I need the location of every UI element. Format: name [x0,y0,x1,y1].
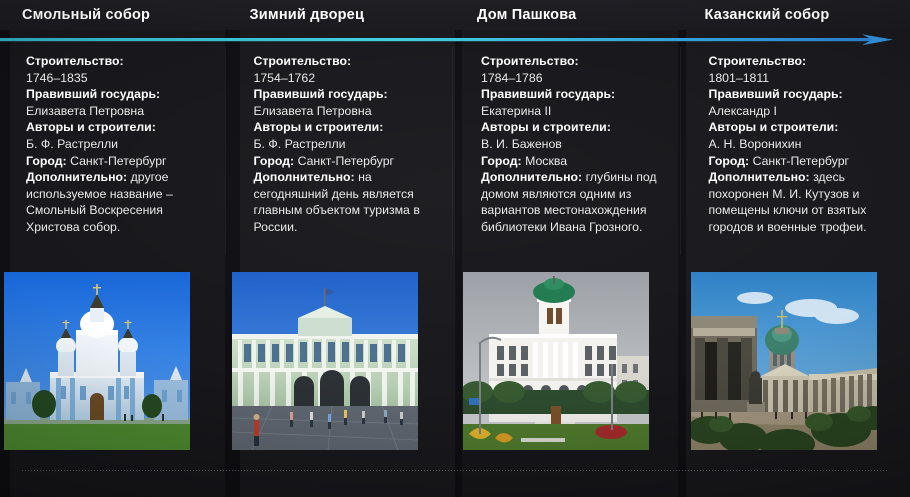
colon: : [518,154,522,168]
label-additional: Дополнительно [481,170,578,184]
label-construction: Строительство: [481,54,579,68]
label-city: Город [26,154,63,168]
value-city: Санкт-Петербург [70,154,166,168]
fact-ruler-value: Александр I [709,103,899,120]
fact-architects-label: Авторы и строители: [26,119,216,136]
value-architects: В. И. Баженов [481,137,562,151]
value-architects: Б. Ф. Растрелли [26,137,118,151]
fact-architects-label: Авторы и строители: [254,119,444,136]
fact-ruler-label: Правивший государь: [481,86,671,103]
fact-architects-value: Б. Ф. Растрелли [26,136,216,153]
photo-kazan-cathedral [691,272,877,450]
fact-additional: Дополнительно: здесь похоронен М. И. Кут… [709,169,899,235]
photo-pashkov-house [463,272,649,450]
label-architects: Авторы и строители: [254,120,384,134]
colon: : [745,154,749,168]
label-city: Город [481,154,518,168]
label-ruler: Правивший государь: [481,87,615,101]
fact-construction-value: 1746–1835 [26,70,216,87]
fact-construction-value: 1784–1786 [481,70,671,87]
column-kazan-cathedral: Строительство: 1801–1811 Правивший госуд… [683,47,910,497]
facts-list: Строительство: 1801–1811 Правивший госуд… [709,47,899,236]
fact-architects-label: Авторы и строители: [481,119,671,136]
column-header-1: Смольный собор [0,0,228,30]
label-architects: Авторы и строители: [709,120,839,134]
column-header-2: Зимний дворец [228,0,456,30]
fact-ruler-label: Правивший государь: [26,86,216,103]
column-title: Зимний дворец [250,7,365,23]
label-additional: Дополнительно [26,170,123,184]
colon: : [123,170,127,184]
value-construction: 1746–1835 [26,71,88,85]
label-architects: Авторы и строители: [26,120,156,134]
value-city: Москва [525,154,567,168]
fact-ruler-label: Правивший государь: [709,86,899,103]
value-architects: Б. Ф. Растрелли [254,137,346,151]
fact-construction-label: Строительство: [709,53,899,70]
fact-construction-label: Строительство: [481,53,671,70]
fact-additional: Дополнительно: другое используемое назва… [26,169,216,235]
facts-list: Строительство: 1754–1762 Правивший госуд… [254,47,444,236]
value-city: Санкт-Петербург [753,154,849,168]
colon: : [290,154,294,168]
bottom-divider [22,470,888,471]
label-ruler: Правивший государь: [709,87,843,101]
value-ruler: Елизавета Петровна [26,104,144,118]
column-title: Дом Пашкова [477,7,576,23]
colon: : [63,154,67,168]
column-pashkov-house: Строительство: 1784–1786 Правивший госуд… [455,47,683,497]
fact-ruler-value: Екатерина II [481,103,671,120]
column-title: Смольный собор [22,7,150,23]
fact-architects-value: В. И. Баженов [481,136,671,153]
value-construction: 1754–1762 [254,71,316,85]
fact-city: Город: Москва [481,153,671,170]
timeline-arrow [0,33,910,47]
facts-list: Строительство: 1784–1786 Правивший госуд… [481,47,671,236]
label-ruler: Правивший государь: [254,87,388,101]
label-city: Город [254,154,291,168]
fact-city: Город: Санкт-Петербург [709,153,899,170]
label-construction: Строительство: [709,54,807,68]
fact-construction-label: Строительство: [254,53,444,70]
fact-city: Город: Санкт-Петербург [254,153,444,170]
colon: : [806,170,810,184]
photo-winter-palace [232,272,418,450]
label-construction: Строительство: [26,54,124,68]
fact-additional: Дополнительно: на сегодняшний день являе… [254,169,444,235]
column-winter-palace: Строительство: 1754–1762 Правивший госуд… [228,47,456,497]
fact-construction-label: Строительство: [26,53,216,70]
fact-ruler-value: Елизавета Петровна [26,103,216,120]
fact-ruler-value: Елизавета Петровна [254,103,444,120]
label-city: Город [709,154,746,168]
slide-root: Смольный собор Зимний дворец Дом Пашкова… [0,0,910,497]
value-city: Санкт-Петербург [298,154,394,168]
column-header-4: Казанский собор [683,0,910,30]
colon: : [351,170,355,184]
fact-city: Город: Санкт-Петербург [26,153,216,170]
fact-architects-value: Б. Ф. Растрелли [254,136,444,153]
label-additional: Дополнительно [709,170,806,184]
label-construction: Строительство: [254,54,352,68]
fact-ruler-label: Правивший государь: [254,86,444,103]
columns-container: Строительство: 1746–1835 Правивший госуд… [0,47,910,497]
label-additional: Дополнительно [254,170,351,184]
fact-construction-value: 1754–1762 [254,70,444,87]
value-construction: 1801–1811 [709,71,770,85]
column-header-3: Дом Пашкова [455,0,683,30]
colon: : [578,170,582,184]
fact-architects-value: А. Н. Воронихин [709,136,899,153]
value-architects: А. Н. Воронихин [709,137,802,151]
photo-smolny-cathedral [4,272,190,450]
value-construction: 1784–1786 [481,71,543,85]
fact-construction-value: 1801–1811 [709,70,899,87]
column-smolny: Строительство: 1746–1835 Правивший госуд… [0,47,228,497]
value-ruler: Александр I [709,104,777,118]
facts-list: Строительство: 1746–1835 Правивший госуд… [26,47,216,236]
label-architects: Авторы и строители: [481,120,611,134]
fact-architects-label: Авторы и строители: [709,119,899,136]
column-headers: Смольный собор Зимний дворец Дом Пашкова… [0,0,910,30]
value-ruler: Екатерина II [481,104,551,118]
value-ruler: Елизавета Петровна [254,104,372,118]
fact-additional: Дополнительно: глубины под домом являютс… [481,169,671,235]
column-title: Казанский собор [705,7,830,23]
label-ruler: Правивший государь: [26,87,160,101]
